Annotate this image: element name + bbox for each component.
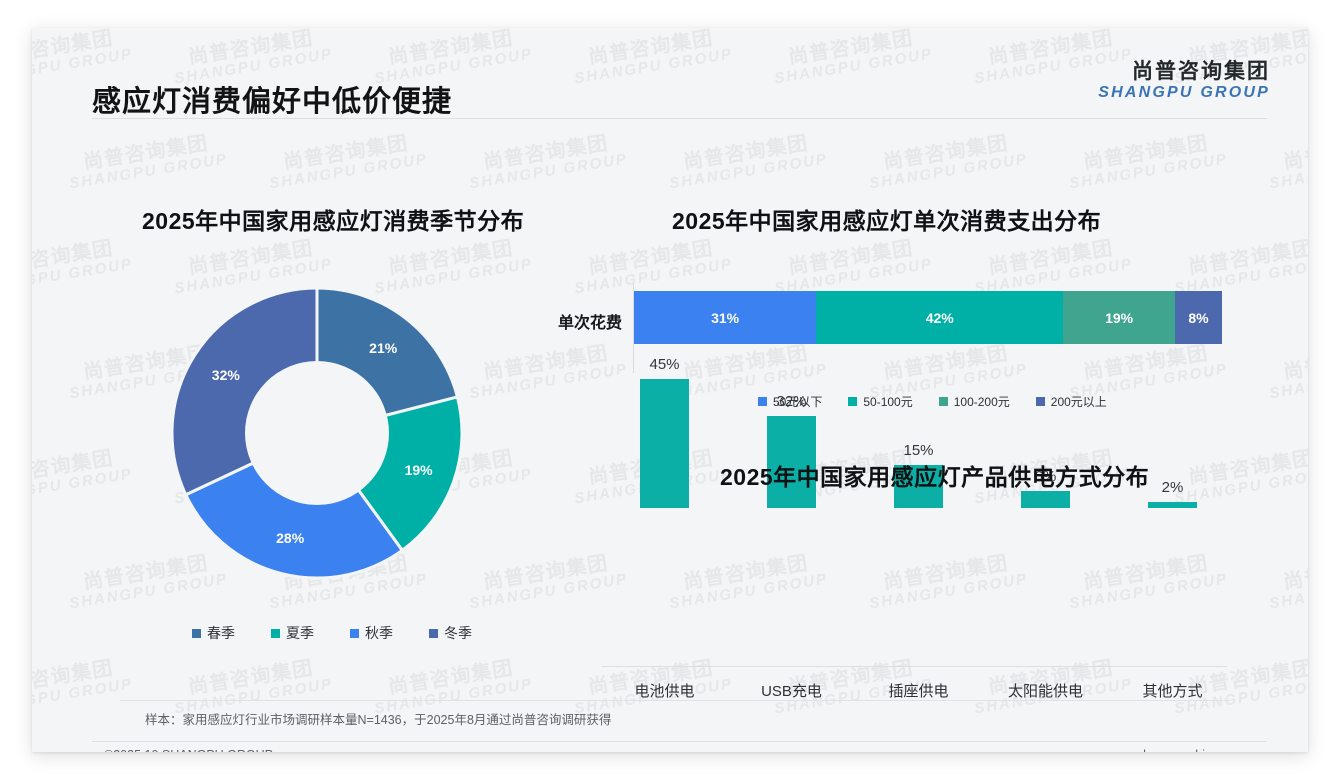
watermark-tile: 尚普咨询集团SHANGPU GROUP [665,131,829,192]
legend-swatch-icon [758,397,767,406]
legend-swatch-icon [939,397,948,406]
column-category-label: 太阳能供电 [983,680,1108,701]
watermark-tile: 尚普咨询集团SHANGPU GROUP [170,656,334,717]
watermark-tile: 尚普咨询集团SHANGPU GROUP [1170,236,1308,297]
legend-label: 50元以下 [773,393,822,410]
legend-label: 冬季 [444,623,472,643]
watermark-tile: 尚普咨询集团SHANGPU GROUP [865,551,1029,612]
donut-slice-label: 19% [405,462,433,478]
column-category-label: 电池供电 [602,680,727,701]
footnote-divider [120,700,1230,701]
legend-label: 秋季 [365,623,393,643]
legend-item[interactable]: 秋季 [350,623,393,643]
legend-item[interactable]: 夏季 [271,623,314,643]
logo-chinese-text: 尚普咨询集团 [1098,60,1270,84]
watermark-tile: 尚普咨询集团SHANGPU GROUP [32,236,134,297]
column-baseline-axis [602,666,1227,667]
season-donut-chart: 21%19%28%32% [167,283,467,588]
legend-swatch-icon [350,629,359,638]
column-bar[interactable] [1148,502,1197,508]
watermark-tile: 尚普咨询集团SHANGPU GROUP [465,131,629,192]
watermark-tile: 尚普咨询集团SHANGPU GROUP [65,131,229,192]
spend-legend: 50元以下50-100元100-200元200元以上 [758,393,1107,410]
logo-english-text: SHANGPU GROUP [1098,84,1270,102]
watermark-tile: 尚普咨询集团SHANGPU GROUP [1265,341,1308,402]
watermark-tile: 尚普咨询集团SHANGPU GROUP [1265,551,1308,612]
column-group: 45% [602,356,727,508]
column-bar[interactable] [1021,491,1070,508]
page-title: 感应灯消费偏好中低价便捷 [92,78,452,120]
season-legend: 春季夏季秋季冬季 [192,623,472,643]
column-bar[interactable] [640,379,689,508]
footer-divider [92,741,1267,742]
legend-item[interactable]: 50-100元 [848,393,912,410]
donut-slice-label: 21% [369,340,397,356]
copyright-text: ©2025.10 SHANGPU GROUP [104,748,273,752]
column-value-label: 15% [903,442,933,459]
watermark-tile: 尚普咨询集团SHANGPU GROUP [1265,131,1308,192]
stacked-bar-segment[interactable]: 8% [1175,291,1222,344]
legend-swatch-icon [271,629,280,638]
watermark-tile: 尚普咨询集团SHANGPU GROUP [1065,551,1229,612]
watermark-tile: 尚普咨询集团SHANGPU GROUP [32,656,134,717]
legend-label: 100-200元 [954,393,1010,410]
watermark-tile: 尚普咨询集团SHANGPU GROUP [865,131,1029,192]
column-category-label: 插座供电 [856,680,981,701]
legend-item[interactable]: 春季 [192,623,235,643]
watermark-tile: 尚普咨询集团SHANGPU GROUP [32,446,134,507]
legend-item[interactable]: 100-200元 [939,393,1010,410]
stacked-bar-segment[interactable]: 42% [816,291,1063,344]
legend-label: 夏季 [286,623,314,643]
website-url[interactable]: www.shangpu-china.com [1107,748,1246,752]
donut-slice-label: 28% [276,530,304,546]
chart-title-power: 2025年中国家用感应灯产品供电方式分布 [720,458,1149,492]
column-category-label: 其他方式 [1110,680,1235,701]
watermark-tile: 尚普咨询集团SHANGPU GROUP [665,551,829,612]
column-value-label: 45% [649,356,679,373]
legend-label: 50-100元 [863,393,912,410]
legend-item[interactable]: 200元以上 [1036,393,1107,410]
watermark-tile: 尚普咨询集团SHANGPU GROUP [570,236,734,297]
legend-label: 200元以上 [1051,393,1107,410]
chart-title-spend: 2025年中国家用感应灯单次消费支出分布 [672,202,1101,236]
donut-slice-label: 32% [212,367,240,383]
legend-item[interactable]: 50元以下 [758,393,822,410]
legend-swatch-icon [192,629,201,638]
stacked-bar-category-label: 单次花费 [522,309,622,333]
column-category-label: USB充电 [729,680,854,701]
header-divider [92,118,1267,119]
legend-swatch-icon [429,629,438,638]
watermark-tile: 尚普咨询集团SHANGPU GROUP [265,131,429,192]
chart-title-season: 2025年中国家用感应灯消费季节分布 [142,202,524,236]
watermark-tile: 尚普咨询集团SHANGPU GROUP [1065,131,1229,192]
donut-hole [245,361,389,505]
legend-label: 春季 [207,623,235,643]
slide-header: 感应灯消费偏好中低价便捷 尚普咨询集团 SHANGPU GROUP [32,28,1308,118]
watermark-tile: 尚普咨询集团SHANGPU GROUP [370,656,534,717]
legend-swatch-icon [848,397,857,406]
brand-logo: 尚普咨询集团 SHANGPU GROUP [1098,60,1270,103]
stacked-bar-segment[interactable]: 31% [634,291,816,344]
legend-item[interactable]: 冬季 [429,623,472,643]
stacked-bar-track: 31%42%19%8% [634,291,1222,344]
slide-canvas: 尚普咨询集团SHANGPU GROUP尚普咨询集团SHANGPU GROUP尚普… [32,28,1308,752]
stacked-bar-segment[interactable]: 19% [1063,291,1175,344]
column-value-label: 2% [1162,479,1184,496]
sample-footnote: 样本：家用感应灯行业市场调研样本量N=1436，于2025年8月通过尚普咨询调研… [145,709,611,728]
donut-svg [167,283,467,583]
watermark-tile: 尚普咨询集团SHANGPU GROUP [970,236,1134,297]
watermark-tile: 尚普咨询集团SHANGPU GROUP [770,236,934,297]
legend-swatch-icon [1036,397,1045,406]
watermark-tile: 尚普咨询集团SHANGPU GROUP [465,551,629,612]
